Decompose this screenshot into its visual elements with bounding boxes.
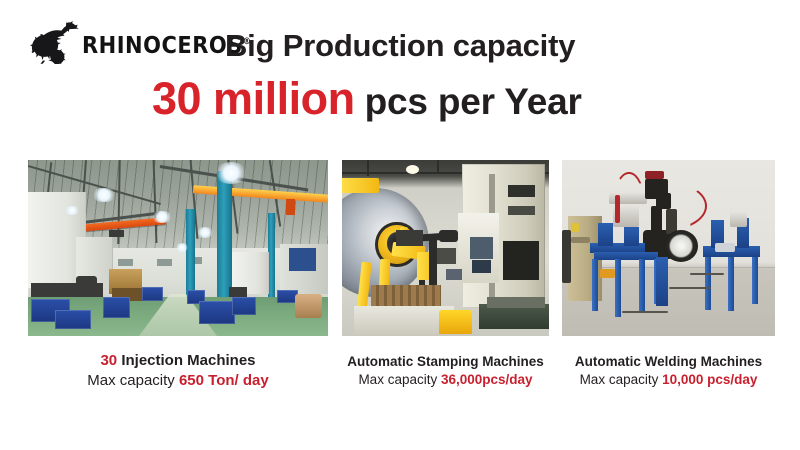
caption-stamping-capacity-value: 36,000pcs/day bbox=[441, 372, 533, 387]
headline-primary: Big Production capacity bbox=[225, 28, 575, 64]
caption-injection-line1: 30 Injection Machines bbox=[28, 351, 328, 371]
caption-welding: Automatic Welding Machines Max capacity … bbox=[558, 353, 779, 388]
photo-panel-welding bbox=[562, 160, 775, 336]
caption-injection-capacity-value: 650 Ton/ day bbox=[179, 372, 269, 389]
caption-welding-label: Automatic Welding Machines bbox=[575, 354, 762, 369]
photo-panel-injection bbox=[28, 160, 328, 336]
headline-secondary: 30 million pcs per Year bbox=[152, 76, 582, 121]
caption-stamping-line2: Max capacity 36,000pcs/day bbox=[336, 371, 555, 389]
caption-welding-line1: Automatic Welding Machines bbox=[558, 353, 779, 371]
brand-logo: RHINOCEROS® bbox=[26, 18, 206, 66]
caption-stamping-label: Automatic Stamping Machines bbox=[347, 354, 544, 369]
caption-stamping: Automatic Stamping Machines Max capacity… bbox=[336, 353, 555, 388]
slide-canvas: RHINOCEROS® Big Production capacity 30 m… bbox=[0, 0, 800, 450]
injection-workshop-photo bbox=[28, 160, 328, 336]
caption-stamping-line1: Automatic Stamping Machines bbox=[336, 353, 555, 371]
automatic-stamping-machine-photo bbox=[342, 160, 549, 336]
headline-highlight-suffix: pcs per Year bbox=[355, 81, 582, 122]
caption-injection: 30 Injection Machines Max capacity 650 T… bbox=[28, 351, 328, 390]
caption-welding-capacity-value: 10,000 pcs/day bbox=[662, 372, 757, 387]
photo-panel-stamping bbox=[342, 160, 549, 336]
caption-stamping-capacity-prefix: Max capacity bbox=[358, 372, 441, 387]
caption-welding-capacity-prefix: Max capacity bbox=[580, 372, 663, 387]
caption-welding-line2: Max capacity 10,000 pcs/day bbox=[558, 371, 779, 389]
caption-injection-line2: Max capacity 650 Ton/ day bbox=[28, 371, 328, 391]
caption-injection-label: Injection Machines bbox=[117, 352, 255, 369]
headline-highlight: 30 million bbox=[152, 73, 355, 124]
rhinoceros-logo-icon bbox=[26, 20, 84, 64]
caption-injection-capacity-prefix: Max capacity bbox=[87, 372, 179, 389]
caption-injection-count: 30 bbox=[100, 352, 117, 369]
automatic-welding-machine-photo bbox=[562, 160, 775, 336]
